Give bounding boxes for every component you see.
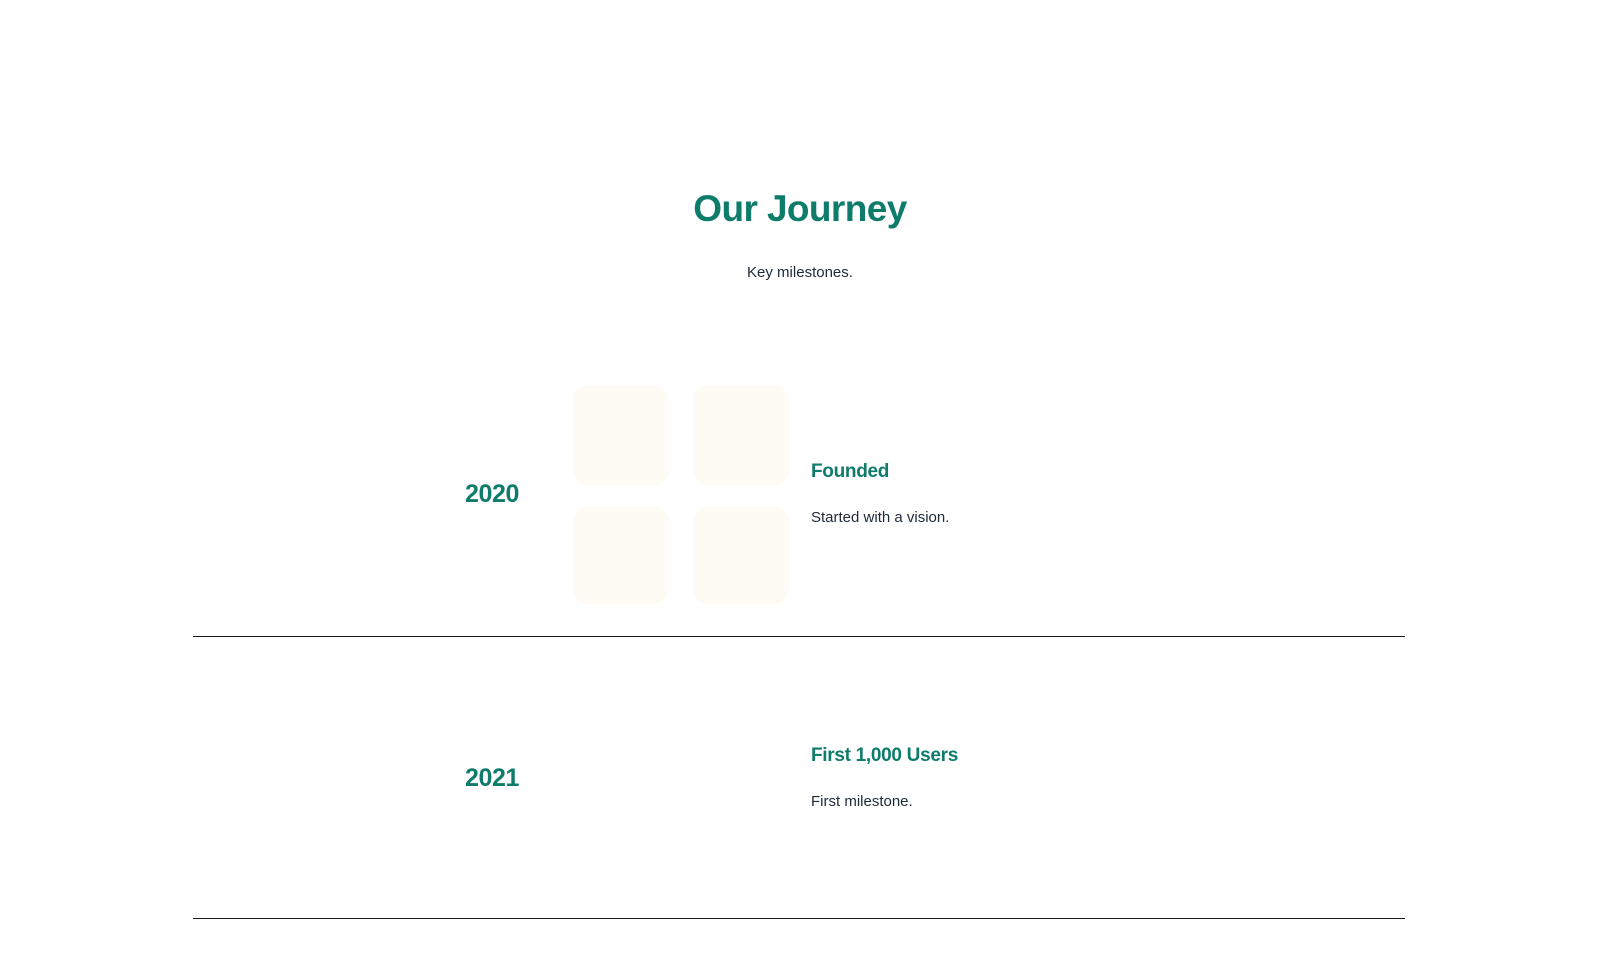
timeline-year-cell: 2021: [193, 762, 568, 794]
page-subtitle: Key milestones.: [0, 232, 1600, 284]
timeline-heading: Founded: [811, 459, 1405, 485]
timeline-list: 2020 Founded Started with a vision. 2021: [193, 352, 1405, 919]
image-placeholder-tile: [693, 507, 789, 604]
journey-page: Our Journey Key milestones. 2020 Founded…: [0, 0, 1600, 978]
timeline-heading: First 1,000 Users: [811, 743, 1405, 769]
timeline-description: First milestone.: [811, 769, 1405, 813]
timeline-row: 2020 Founded Started with a vision.: [193, 352, 1405, 637]
page-title: Our Journey: [0, 186, 1600, 232]
timeline-year-cell: 2020: [193, 478, 568, 510]
timeline-text-cell: Founded Started with a vision.: [793, 459, 1405, 529]
timeline-year: 2020: [465, 478, 519, 510]
timeline-text-cell: First 1,000 Users First milestone.: [793, 743, 1405, 813]
image-placeholder-grid: [573, 385, 789, 604]
section-header: Our Journey Key milestones.: [0, 186, 1600, 284]
image-placeholder-tile: [693, 385, 789, 485]
timeline-description: Started with a vision.: [811, 485, 1405, 529]
timeline-year: 2021: [465, 762, 519, 794]
timeline-row: 2021 First 1,000 Users First milestone.: [193, 637, 1405, 919]
image-placeholder-tile: [573, 507, 669, 604]
timeline-media-cell: [568, 385, 793, 604]
image-placeholder-tile: [573, 385, 669, 485]
